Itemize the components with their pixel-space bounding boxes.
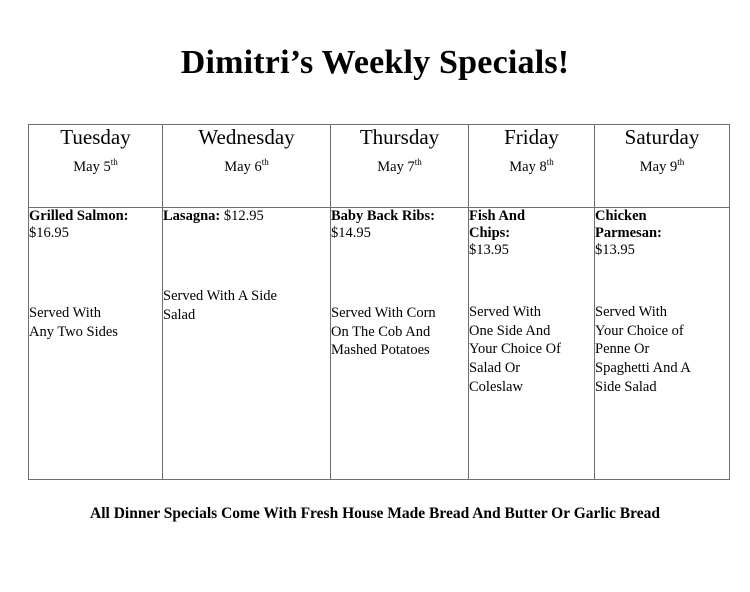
- day-date: May 9th: [595, 160, 729, 176]
- day-date-text: May 7: [377, 159, 414, 175]
- dish-price: $14.95: [331, 225, 468, 242]
- day-date: May 6th: [163, 160, 330, 176]
- day-date-ordinal: th: [111, 157, 118, 167]
- column-header-thursday: Thursday May 7th: [331, 125, 469, 208]
- specials-flyer: Dimitri’s Weekly Specials! Tuesday May 5…: [0, 0, 750, 592]
- table-row: Grilled Salmon: $16.95 Served With Any T…: [29, 208, 730, 480]
- day-date: May 5th: [29, 160, 162, 176]
- day-name: Tuesday: [29, 125, 162, 149]
- cell-spacer: [469, 259, 594, 303]
- dish-sides: Served With Any Two Sides: [29, 304, 162, 341]
- special-cell-tuesday: Grilled Salmon: $16.95 Served With Any T…: [29, 208, 163, 480]
- dish-sides: Served With A Side Salad: [163, 287, 330, 324]
- day-date-ordinal: th: [677, 157, 684, 167]
- special-cell-friday: Fish And Chips: $13.95 Served With One S…: [469, 208, 595, 480]
- dish-price: $13.95: [595, 242, 729, 259]
- cell-spacer: [163, 225, 330, 287]
- special-cell-saturday: Chicken Parmesan: $13.95 Served With You…: [595, 208, 730, 480]
- special-cell-wednesday: Lasagna: $12.95 Served With A Side Salad: [163, 208, 331, 480]
- dish-name: Chicken Parmesan:: [595, 208, 729, 242]
- dish-name: Baby Back Ribs:: [331, 208, 468, 225]
- dish-name: Lasagna: $12.95: [163, 208, 330, 225]
- column-header-wednesday: Wednesday May 6th: [163, 125, 331, 208]
- dish-sides: Served With One Side And Your Choice Of …: [469, 303, 594, 396]
- page-title: Dimitri’s Weekly Specials!: [0, 44, 750, 81]
- day-name: Wednesday: [163, 125, 330, 149]
- table-header-row: Tuesday May 5th Wednesday May 6th Thursd…: [29, 125, 730, 208]
- column-header-tuesday: Tuesday May 5th: [29, 125, 163, 208]
- dish-price: $13.95: [469, 242, 594, 259]
- day-date: May 8th: [469, 160, 594, 176]
- cell-spacer: [595, 259, 729, 303]
- dish-price: $16.95: [29, 225, 162, 242]
- day-date-text: May 9: [640, 159, 677, 175]
- weekly-specials-table: Tuesday May 5th Wednesday May 6th Thursd…: [28, 124, 730, 480]
- dish-sides: Served With Your Choice of Penne Or Spag…: [595, 303, 729, 396]
- dish-name: Fish And Chips:: [469, 208, 594, 242]
- day-name: Thursday: [331, 125, 468, 149]
- day-date-ordinal: th: [547, 157, 554, 167]
- day-date-ordinal: th: [262, 157, 269, 167]
- cell-spacer: [29, 242, 162, 304]
- day-date-ordinal: th: [415, 157, 422, 167]
- day-date-text: May 8: [509, 159, 546, 175]
- special-cell-thursday: Baby Back Ribs: $14.95 Served With Corn …: [331, 208, 469, 480]
- dish-sides: Served With Corn On The Cob And Mashed P…: [331, 304, 468, 360]
- day-name: Saturday: [595, 125, 729, 149]
- day-date-text: May 6: [224, 159, 261, 175]
- column-header-friday: Friday May 8th: [469, 125, 595, 208]
- column-header-saturday: Saturday May 9th: [595, 125, 730, 208]
- day-date: May 7th: [331, 160, 468, 176]
- day-date-text: May 5: [73, 159, 110, 175]
- day-name: Friday: [469, 125, 594, 149]
- cell-spacer: [331, 242, 468, 304]
- dish-name: Grilled Salmon:: [29, 208, 162, 225]
- dish-price: $12.95: [224, 208, 264, 224]
- dish-name-text: Lasagna:: [163, 208, 220, 224]
- footer-note: All Dinner Specials Come With Fresh Hous…: [0, 505, 750, 524]
